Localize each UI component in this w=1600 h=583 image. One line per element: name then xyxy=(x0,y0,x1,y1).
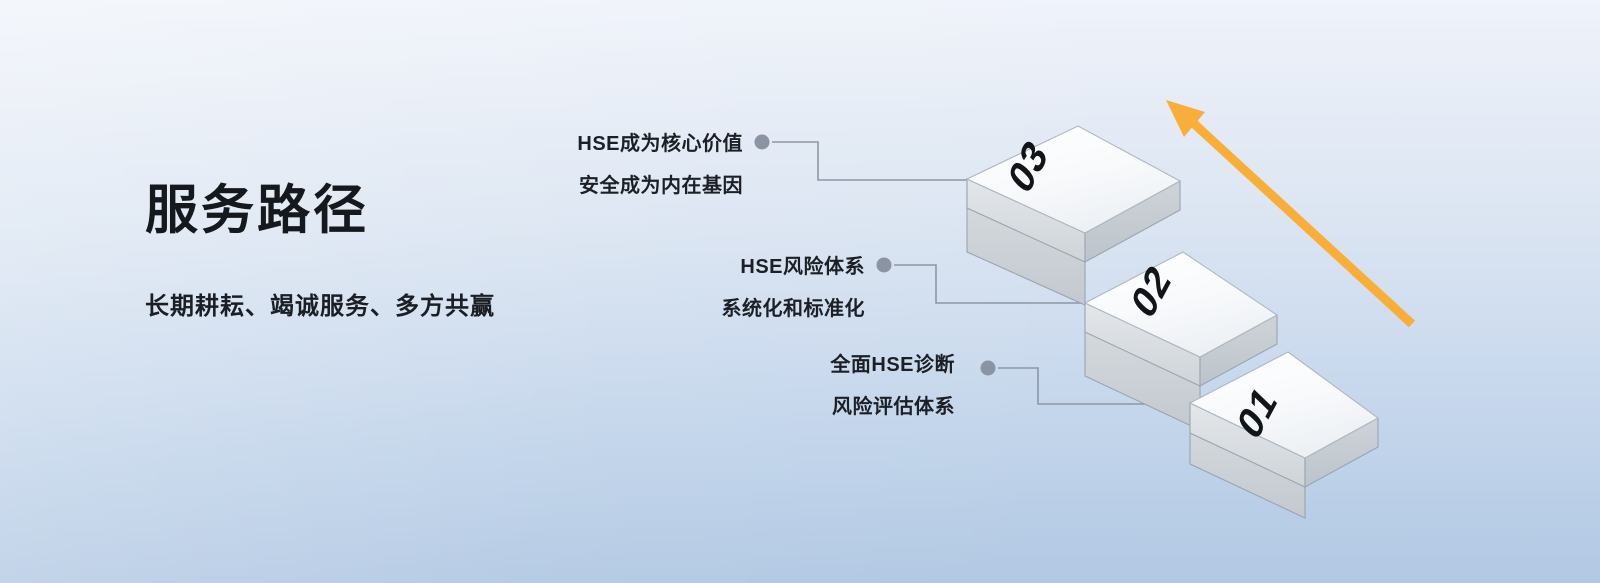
callout-step-02: HSE风险体系 系统化和标准化 xyxy=(388,257,865,319)
connector-dot-03 xyxy=(755,135,770,150)
connector-step-03 xyxy=(755,135,976,181)
connector-dot-01 xyxy=(981,361,996,376)
callout-step-01-line2: 风险评估体系 xyxy=(492,397,955,417)
callout-step-02-line1: HSE风险体系 xyxy=(388,257,865,277)
connector-dot-02 xyxy=(877,258,892,273)
callout-step-02-line2: 系统化和标准化 xyxy=(388,299,865,319)
slide-canvas: 服务路径 长期耕耘、竭诚服务、多方共赢 xyxy=(0,0,1600,583)
callout-step-03-line1: HSE成为核心价值 xyxy=(268,134,743,154)
callout-step-03: HSE成为核心价值 安全成为内在基因 xyxy=(268,134,743,196)
callout-step-01-line1: 全面HSE诊断 xyxy=(492,355,955,375)
step-block-01[interactable] xyxy=(1190,352,1378,518)
callout-step-03-line2: 安全成为内在基因 xyxy=(268,176,743,196)
callout-step-01: 全面HSE诊断 风险评估体系 xyxy=(492,355,955,417)
